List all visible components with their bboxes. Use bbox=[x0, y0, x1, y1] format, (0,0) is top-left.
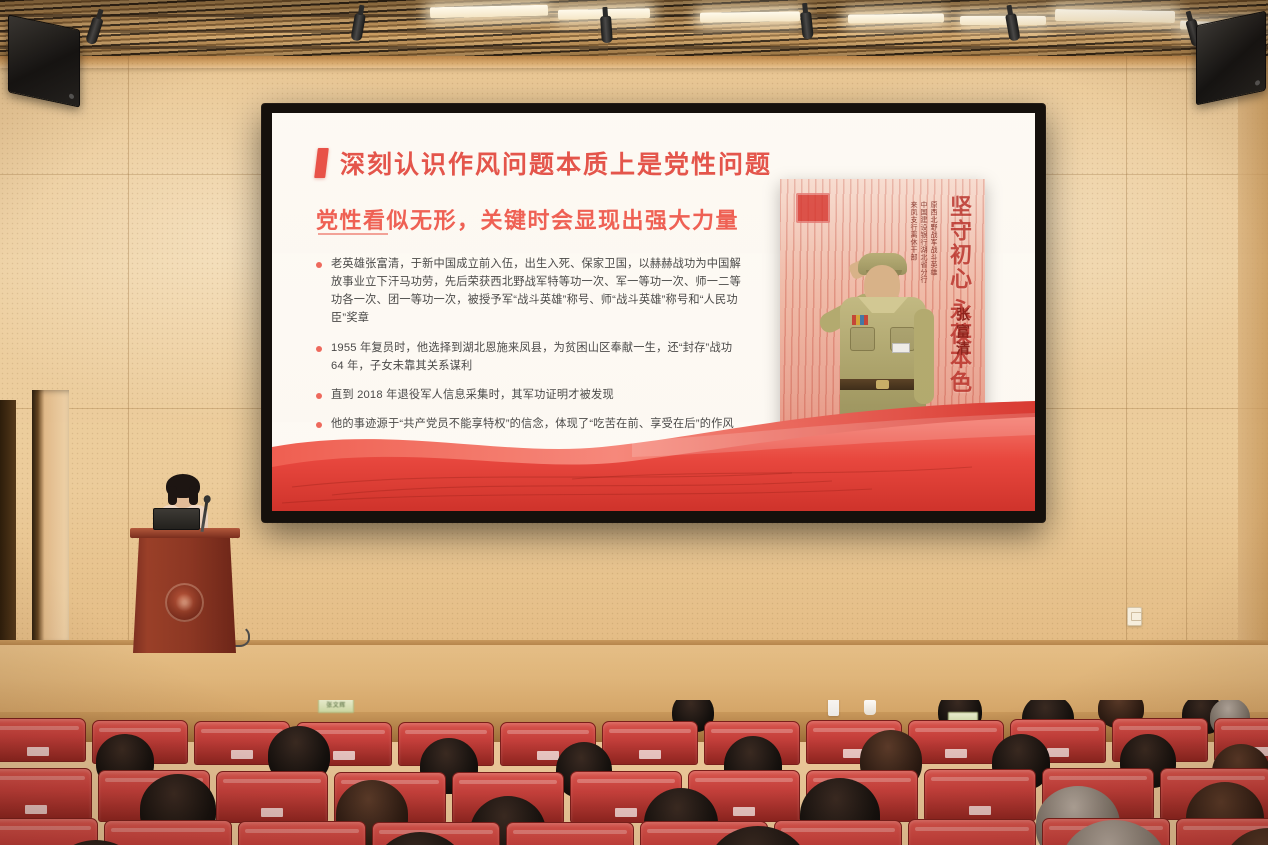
podium-laptop[interactable] bbox=[153, 508, 200, 530]
bullet-dot-icon bbox=[316, 346, 322, 352]
wall-outlet[interactable] bbox=[1127, 607, 1142, 626]
slide-title-row: 深刻认识作风问题本质上是党性问题 bbox=[316, 145, 772, 181]
red-seal-icon bbox=[796, 193, 830, 223]
wall-right-column bbox=[1238, 56, 1268, 666]
auditorium-scene: 深刻认识作风问题本质上是党性问题 党性看似无形，关键时会显现出强大力量 老英雄张… bbox=[0, 0, 1268, 845]
seat[interactable] bbox=[506, 822, 634, 845]
list-item: 1955 年复员时，他选择到湖北恩施来凤县，为贫困山区奉献一生，还“封存”战功 … bbox=[316, 339, 741, 375]
institution-emblem-icon bbox=[165, 583, 204, 622]
seat[interactable] bbox=[238, 821, 366, 845]
seat[interactable] bbox=[924, 769, 1036, 821]
side-doorway[interactable] bbox=[32, 390, 69, 645]
bullet-text: 1955 年复员时，他选择到湖北恩施来凤县，为贫困山区奉献一生，还“封存”战功 … bbox=[331, 339, 741, 375]
presentation-slide: 深刻认识作风问题本质上是党性问题 党性看似无形，关键时会显现出强大力量 老英雄张… bbox=[272, 113, 1035, 511]
bullet-text: 老英雄张富清，于新中国成立前入伍，出生入死、保家卫国，以赫赫战功为中国解放事业立… bbox=[331, 255, 741, 328]
bullet-dot-icon bbox=[316, 262, 322, 268]
ceiling-strip-light bbox=[848, 13, 944, 23]
presenter-hair bbox=[166, 474, 200, 498]
seat[interactable] bbox=[216, 771, 328, 823]
slide-title: 深刻认识作风问题本质上是党性问题 bbox=[340, 145, 772, 181]
ceiling-strip-light bbox=[1055, 9, 1175, 23]
led-screen-bezel: 深刻认识作风问题本质上是党性问题 党性看似无形，关键时会显现出强大力量 老英雄张… bbox=[262, 104, 1045, 522]
ceiling-speaker-right bbox=[1196, 11, 1266, 106]
seat[interactable] bbox=[908, 819, 1036, 845]
name-placard: 张文辉 bbox=[318, 700, 354, 713]
ceiling-speaker-left bbox=[8, 14, 80, 107]
track-spotlight bbox=[600, 16, 613, 44]
title-accent-bar-icon bbox=[314, 148, 329, 178]
ceiling-strip-light bbox=[960, 16, 1046, 25]
doorway-shadow bbox=[0, 400, 16, 645]
ceiling-strip-light bbox=[700, 11, 800, 22]
slide-subtitle: 党性看似无形，关键时会显现出强大力量 bbox=[316, 203, 739, 235]
seat[interactable] bbox=[0, 768, 92, 820]
seat[interactable] bbox=[0, 718, 86, 762]
water-bottle bbox=[828, 700, 839, 716]
list-item: 老英雄张富清，于新中国成立前入伍，出生入死、保家卫国，以赫赫战功为中国解放事业立… bbox=[316, 255, 741, 328]
red-wave-graphic bbox=[272, 395, 1035, 511]
led-screen-display[interactable]: 深刻认识作风问题本质上是党性问题 党性看似无形，关键时会显现出强大力量 老英雄张… bbox=[272, 113, 1035, 511]
seat[interactable] bbox=[602, 721, 698, 765]
seat[interactable] bbox=[104, 820, 232, 845]
audience-seating: 张文辉 bbox=[0, 700, 1268, 845]
seat[interactable] bbox=[908, 720, 1004, 764]
subtitle-underline bbox=[318, 233, 388, 235]
paper-cup bbox=[864, 700, 876, 715]
